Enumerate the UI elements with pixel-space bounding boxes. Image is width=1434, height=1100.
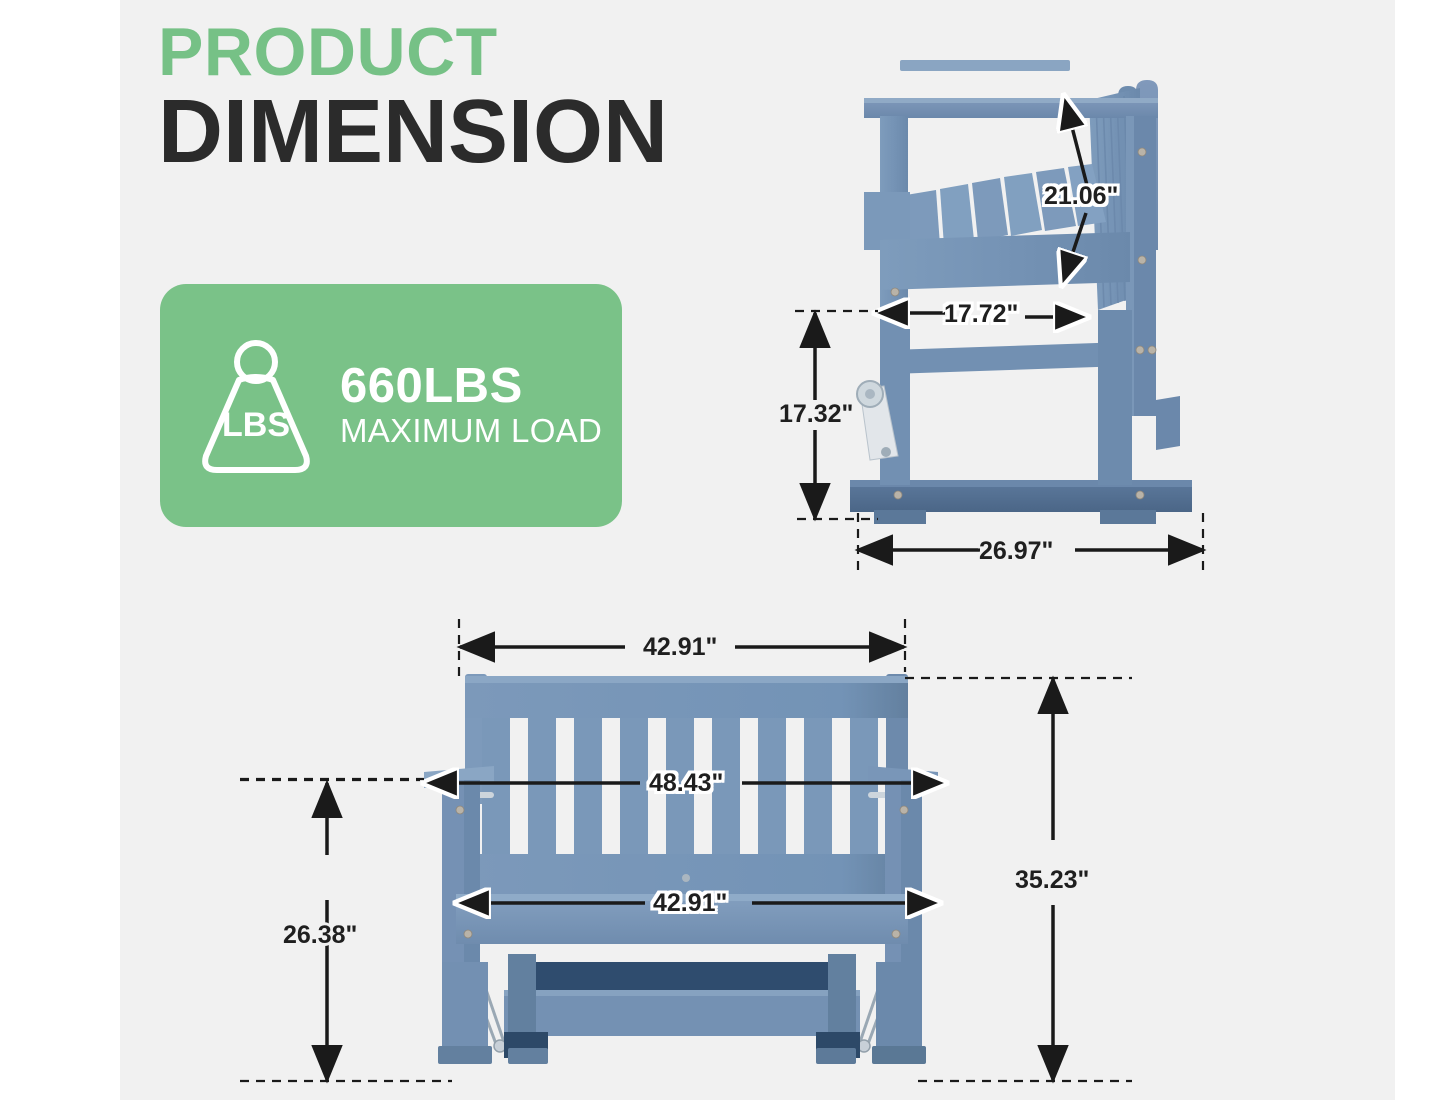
- product-dimension-page: PRODUCT DIMENSION LBS 660LBS MAXIMUM LOA…: [0, 0, 1434, 1100]
- title-line-product: PRODUCT: [158, 18, 858, 87]
- max-load-badge: LBS 660LBS MAXIMUM LOAD: [160, 284, 622, 527]
- front-view-glider-bench: [408, 662, 953, 1100]
- dimension-label-seat-width: 42.91": [653, 889, 727, 918]
- dimension-label-seat-height-side: 17.32": [779, 400, 853, 429]
- max-load-value: 660LBS: [340, 361, 602, 413]
- dimension-label-back-height: 21.06": [1044, 182, 1118, 211]
- max-load-text-block: 660LBS MAXIMUM LOAD: [340, 361, 602, 449]
- dimension-label-back-width: 42.91": [643, 633, 717, 662]
- dimension-label-seat-height-front: 26.38": [283, 921, 357, 950]
- weight-icon-text: LBS: [222, 406, 290, 444]
- side-view-glider-bench: [840, 60, 1220, 530]
- dimension-label-overall-width: 48.43": [649, 769, 723, 798]
- title-line-dimension: DIMENSION: [158, 87, 858, 179]
- page-title: PRODUCT DIMENSION: [158, 18, 858, 179]
- dimension-label-overall-depth: 26.97": [979, 537, 1053, 566]
- max-load-caption: MAXIMUM LOAD: [340, 413, 602, 449]
- weight-lbs-icon: LBS: [194, 336, 318, 476]
- dimension-label-overall-height: 35.23": [1015, 866, 1089, 895]
- dimension-label-seat-depth: 17.72": [944, 300, 1018, 329]
